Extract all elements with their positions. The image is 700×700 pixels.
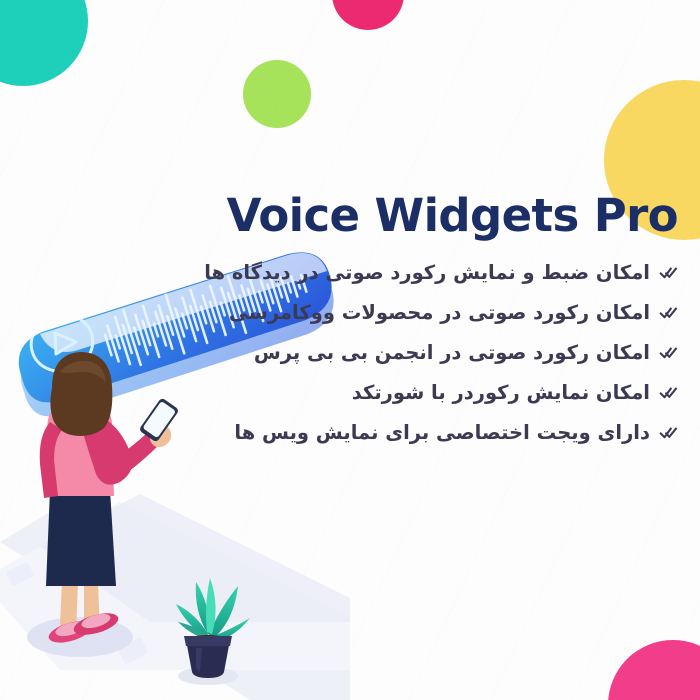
double-check-icon [659, 383, 678, 402]
decor-circle-pink-top [332, 0, 404, 30]
decor-circle-teal [0, 0, 88, 86]
list-item-label: امکان ضبط و نمایش رکورد صوتی در دیدگاه ه… [204, 261, 650, 284]
list-item-label: امکان نمایش رکوردر با شورتکد [352, 381, 650, 404]
list-item-label: امکان رکورد صوتی در محصولات ووکامرسی [229, 301, 650, 324]
double-check-icon [659, 423, 678, 442]
list-item: امکان رکورد صوتی در محصولات ووکامرسی [18, 292, 678, 332]
list-item: امکان رکورد صوتی در انجمن بی بی پرس [18, 332, 678, 372]
page-title: Voice Widgets Pro [227, 193, 678, 238]
list-item: دارای ویجت اختصاصی برای نمایش ویس ها [18, 412, 678, 452]
list-item-label: امکان رکورد صوتی در انجمن بی بی پرس [254, 341, 650, 364]
list-item: امکان نمایش رکوردر با شورتکد [18, 372, 678, 412]
list-item: امکان ضبط و نمایش رکورد صوتی در دیدگاه ه… [18, 252, 678, 292]
promo-banner: Voice Widgets Pro امکان ضبط و نمایش رکور… [0, 0, 700, 700]
feature-list: امکان ضبط و نمایش رکورد صوتی در دیدگاه ه… [18, 252, 678, 452]
decor-circle-pink-bottom [608, 640, 700, 700]
double-check-icon [659, 343, 678, 362]
double-check-icon [659, 263, 678, 282]
double-check-icon [659, 303, 678, 322]
decor-circle-green [243, 60, 311, 128]
list-item-label: دارای ویجت اختصاصی برای نمایش ویس ها [234, 421, 650, 444]
